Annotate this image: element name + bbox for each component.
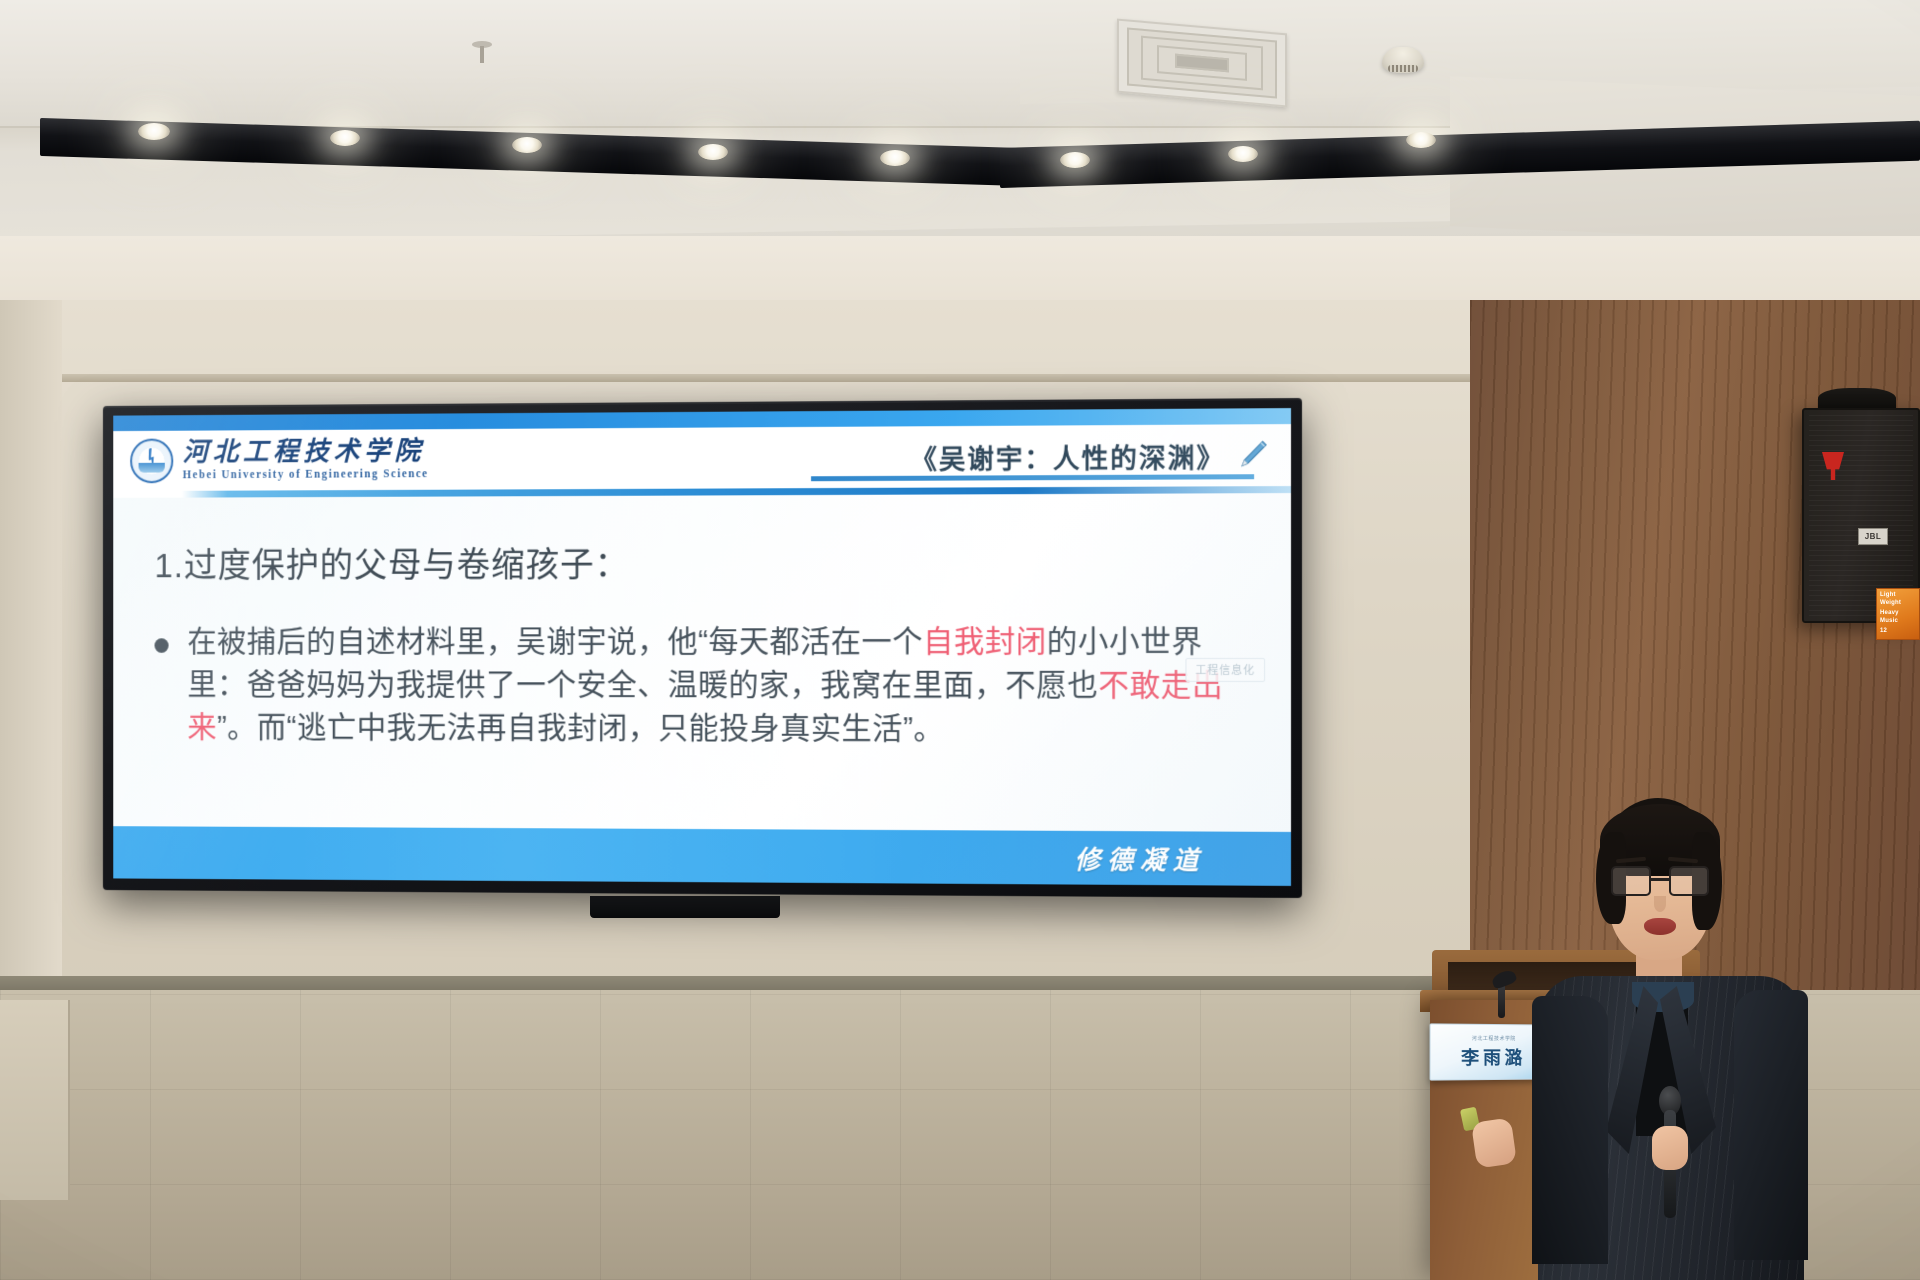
smoke-detector-icon (1382, 47, 1424, 73)
bullet-text-segment-1: 自我封闭 (923, 624, 1047, 659)
bullet-dot-icon (155, 638, 169, 653)
speaker-brand-label: JBL (1858, 528, 1888, 545)
tv-stand (590, 896, 780, 918)
slide-bullet-item: 在被捕后的自述材料里，吴谢宇说，他“每天都活在一个自我封闭的小小世界里：爸爸妈妈… (155, 620, 1252, 752)
bullet-text-segment-4: ”。而“逃亡中我无法再自我封闭，只能投身真实生活”。 (217, 710, 944, 746)
presenter-mouth (1644, 918, 1676, 935)
speaker-sticker: Light Weight Heavy Music 12 (1876, 588, 1920, 640)
downlight-8 (1406, 132, 1436, 148)
university-seal-icon (130, 439, 173, 484)
presenter-nose (1654, 896, 1666, 912)
speaker-sticker-line1: Light Weight (1877, 589, 1919, 607)
downlight-5 (880, 150, 910, 166)
speaker-sticker-line2: Heavy Music (1877, 607, 1919, 625)
slide-bullet-text: 在被捕后的自述材料里，吴谢宇说，他“每天都活在一个自我封闭的小小世界里：爸爸妈妈… (187, 620, 1251, 752)
downlight-4 (698, 144, 728, 160)
slide: 河北工程技术学院 Hebei University of Engineering… (113, 408, 1291, 886)
university-logo: 河北工程技术学院 Hebei University of Engineering… (130, 437, 428, 483)
presentation-display[interactable]: 河北工程技术学院 Hebei University of Engineering… (103, 398, 1302, 898)
presenter-arm-right (1734, 990, 1808, 1260)
slide-header: 河北工程技术学院 Hebei University of Engineering… (113, 424, 1291, 491)
downlight-7 (1228, 146, 1258, 162)
lecture-hall-scene: JBL Light Weight Heavy Music 12 河北工程技术学院… (0, 0, 1920, 1280)
nameplate-name: 李雨潞 (1461, 1043, 1526, 1069)
downlight-2 (330, 130, 360, 146)
wall-panel-left (0, 1000, 70, 1200)
glasses-icon (1610, 866, 1710, 896)
display-screen[interactable]: 河北工程技术学院 Hebei University of Engineering… (113, 408, 1291, 886)
downlight-6 (1060, 152, 1090, 168)
gooseneck-microphone-icon (1484, 958, 1524, 1018)
slide-title-group: 《吴谢宇：人性的深渊》 (911, 436, 1277, 477)
slide-watermark: 工程信息化 (1185, 658, 1265, 682)
sprinkler-head-icon (472, 41, 492, 65)
slide-body: 1.过度保护的父母与卷缩孩子： 在被捕后的自述材料里，吴谢宇说，他“每天都活在一… (113, 493, 1291, 832)
university-logo-names: 河北工程技术学院 Hebei University of Engineering… (183, 438, 429, 482)
slide-title: 《吴谢宇：人性的深渊》 (911, 436, 1226, 476)
presenter (1520, 790, 1820, 1280)
downlight-1 (138, 123, 170, 140)
slide-footer: 修德凝道 (113, 826, 1291, 886)
downlight-3 (512, 137, 542, 153)
presenter-arm-left (1532, 996, 1608, 1264)
nameplate-organization: 河北工程技术学院 (1472, 1034, 1516, 1041)
bullet-text-segment-0: 在被捕后的自述材料里，吴谢宇说，他“每天都活在一个 (187, 624, 923, 659)
pencil-icon (1235, 438, 1269, 472)
presenter-hand-left (1471, 1117, 1517, 1168)
wall-left-column (0, 300, 62, 1000)
speaker-sticker-line3: 12 (1877, 625, 1919, 636)
slide-footer-motto: 修德凝道 (1075, 839, 1206, 877)
slide-heading: 1.过度保护的父母与卷缩孩子： (155, 535, 1252, 588)
presenter-hand-right (1652, 1126, 1688, 1170)
university-name-cn: 河北工程技术学院 (183, 438, 429, 466)
ceiling-air-vent-icon (1117, 19, 1287, 108)
university-name-en: Hebei University of Engineering Science (183, 470, 429, 482)
